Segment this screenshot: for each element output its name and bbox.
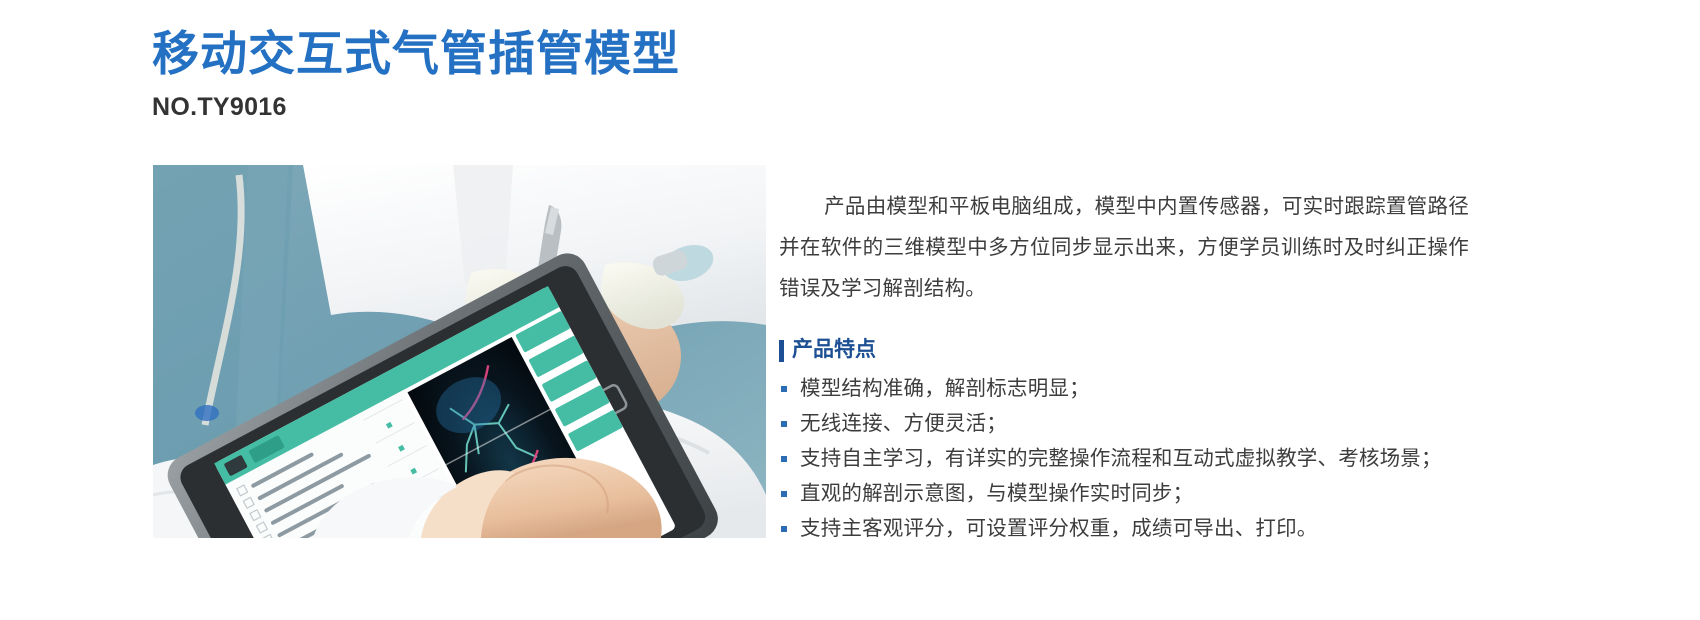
list-item: 支持主客观评分，可设置评分权重，成绩可导出、打印。 <box>779 511 1469 546</box>
product-intro-paragraph: 产品由模型和平板电脑组成，模型中内置传感器，可实时跟踪置管路径并在软件的三维模型… <box>779 186 1469 309</box>
square-bullet-icon <box>781 386 787 392</box>
feature-text: 无线连接、方便灵活； <box>800 412 1007 435</box>
feature-text: 支持主客观评分，可设置评分权重，成绩可导出、打印。 <box>800 517 1318 540</box>
features-heading-label: 产品特点 <box>792 338 876 361</box>
page-title: 移动交互式气管插管模型 <box>152 30 1052 77</box>
page-header: 移动交互式气管插管模型 NO.TY9016 <box>152 30 1052 122</box>
product-description-column: 产品由模型和平板电脑组成，模型中内置传感器，可实时跟踪置管路径并在软件的三维模型… <box>779 165 1469 546</box>
product-model-number: NO.TY9016 <box>152 93 1052 122</box>
square-bullet-icon <box>781 526 787 532</box>
list-item: 模型结构准确，解剖标志明显； <box>779 371 1469 406</box>
feature-text: 支持自主学习，有详实的完整操作流程和互动式虚拟教学、考核场景； <box>800 447 1442 470</box>
product-photo <box>153 165 766 538</box>
product-page: 移动交互式气管插管模型 NO.TY9016 <box>0 0 1700 620</box>
feature-text: 直观的解剖示意图，与模型操作实时同步； <box>800 482 1193 505</box>
list-item: 直观的解剖示意图，与模型操作实时同步； <box>779 476 1469 511</box>
square-bullet-icon <box>781 491 787 497</box>
list-item: 无线连接、方便灵活； <box>779 406 1469 441</box>
product-features-section: 产品特点 模型结构准确，解剖标志明显； 无线连接、方便灵活； 支持自主学习，有详… <box>779 335 1469 546</box>
heading-accent-bar <box>779 340 784 362</box>
list-item: 支持自主学习，有详实的完整操作流程和互动式虚拟教学、考核场景； <box>779 441 1469 476</box>
features-heading: 产品特点 <box>779 335 1469 365</box>
square-bullet-icon <box>781 421 787 427</box>
features-list: 模型结构准确，解剖标志明显； 无线连接、方便灵活； 支持自主学习，有详实的完整操… <box>779 371 1469 546</box>
product-photo-illustration <box>153 165 766 538</box>
square-bullet-icon <box>781 456 787 462</box>
feature-text: 模型结构准确，解剖标志明显； <box>800 377 1090 400</box>
